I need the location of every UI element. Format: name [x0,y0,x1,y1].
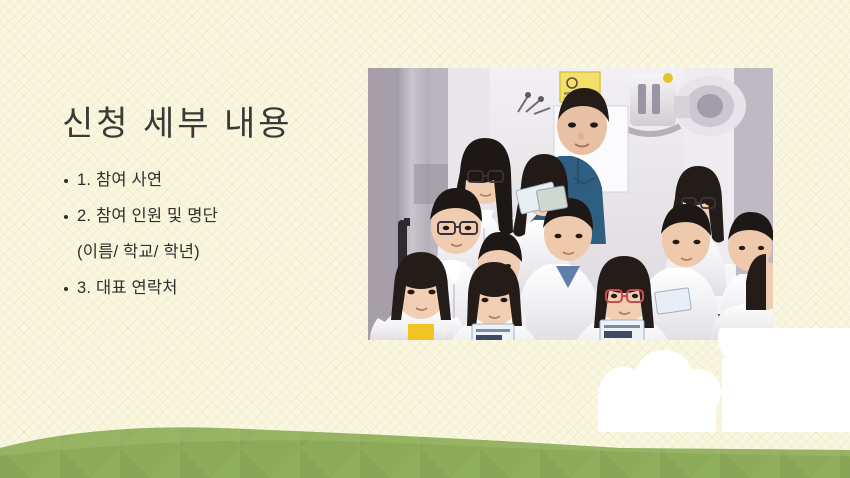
bullet-list: 1. 참여 사연 2. 참여 인원 및 명단 (이름/ 학교/ 학년) 3. 대… [64,172,354,316]
group-photo [368,68,773,340]
list-item-continuation: (이름/ 학교/ 학년) [64,244,354,280]
page-title: 신청 세부 내용 [62,96,293,145]
bullet-dot-icon [64,215,68,219]
list-item: 1. 참여 사연 [64,172,354,208]
list-item-label: (이름/ 학교/ 학년) [77,244,200,261]
cloud-large [718,328,850,432]
list-item: 3. 대표 연락처 [64,280,354,316]
list-item: 2. 참여 인원 및 명단 [64,208,354,244]
bullet-dot-icon [64,179,68,183]
presentation-slide: 신청 세부 내용 1. 참여 사연 2. 참여 인원 및 명단 (이름/ 학교/… [0,0,850,478]
decorative-scenery [0,328,850,478]
cloud-small [598,350,721,432]
list-item-label: 1. 참여 사연 [77,172,162,189]
list-item-label: 2. 참여 인원 및 명단 [77,208,218,225]
bullet-dot-icon [64,287,68,291]
list-item-label: 3. 대표 연락처 [77,280,178,297]
